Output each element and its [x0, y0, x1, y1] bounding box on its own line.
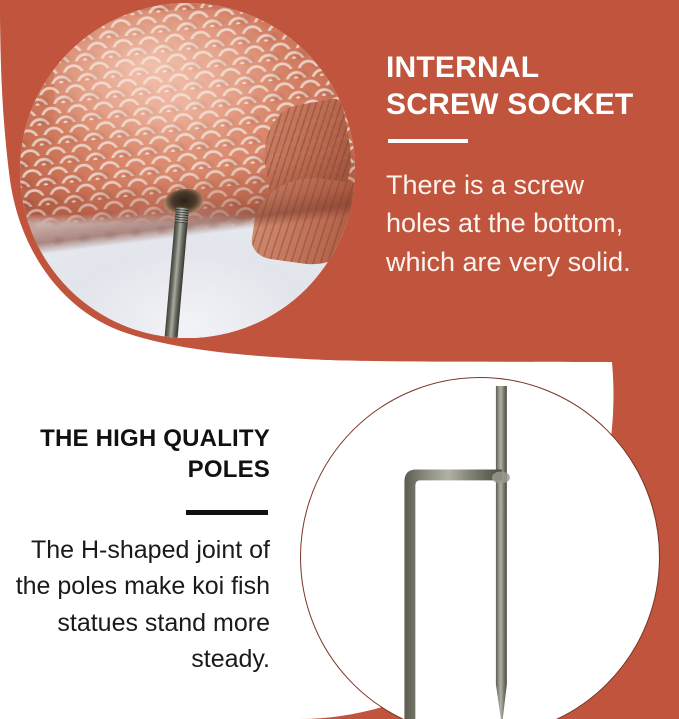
h-pole-photo — [300, 377, 660, 719]
bottom-section-body: The H-shaped joint of the poles make koi… — [8, 532, 270, 677]
rod-thread-texture — [174, 207, 188, 224]
product-infographic: INTERNAL SCREW SOCKET There is a screw h… — [0, 0, 679, 719]
fish-highlight — [54, 10, 289, 151]
pole-joint-weld — [492, 471, 510, 483]
koi-fish-closeup-image — [20, 3, 355, 338]
top-section-heading: INTERNAL SCREW SOCKET — [386, 50, 656, 123]
h-shaped-pole-image — [301, 378, 659, 719]
screw-socket-photo — [20, 3, 355, 338]
pole-crossbar-and-left-leg — [404, 469, 501, 719]
bottom-section-heading: THE HIGH QUALITY POLES — [8, 424, 270, 485]
bottom-section-divider — [186, 510, 268, 515]
top-section-body: There is a screw holes at the bottom, wh… — [386, 166, 651, 281]
top-section-divider — [388, 139, 468, 143]
pole-right-leg — [496, 386, 507, 719]
